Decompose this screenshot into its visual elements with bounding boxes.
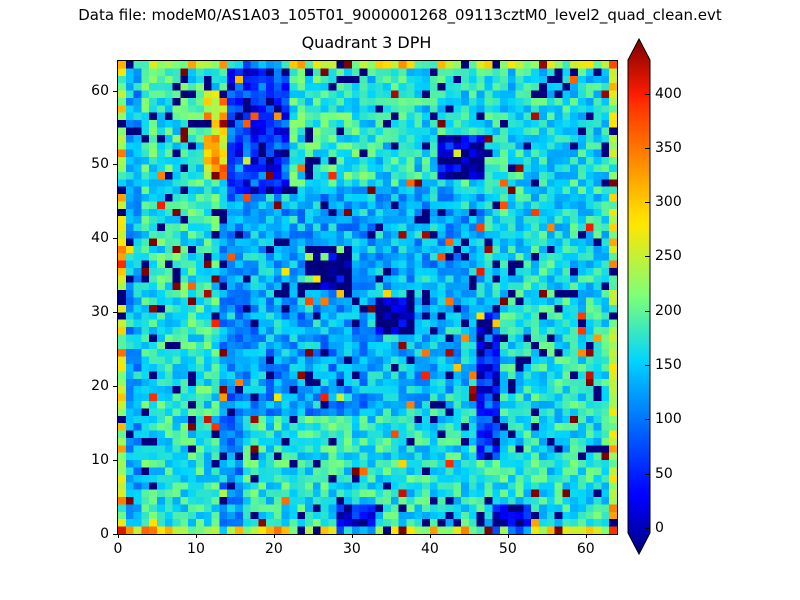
y-tick-label: 0 [77,526,109,542]
y-tick-label: 30 [77,304,109,320]
colorbar-tick-label: 300 [655,194,682,210]
y-tick-mark [113,534,117,535]
y-tick-label: 60 [77,83,109,99]
x-tick-mark [430,534,431,538]
y-tick-label: 10 [77,452,109,468]
heatmap-axes [117,60,618,535]
x-tick-mark [274,534,275,538]
y-tick-mark [113,312,117,313]
colorbar-tick-label: 400 [655,86,682,102]
figure-canvas: Data file: modeM0/AS1A03_105T01_90000012… [0,0,800,600]
x-tick-mark [118,534,119,538]
colorbar-tick-mark [645,419,650,420]
colorbar-tick-mark [645,474,650,475]
x-tick-label: 0 [114,541,123,557]
plot-title: Quadrant 3 DPH [117,33,616,52]
colorbar-tick-label: 350 [655,140,682,156]
y-tick-mark [113,238,117,239]
colorbar-tick-mark [645,202,650,203]
colorbar [627,60,651,533]
y-tick-mark [113,386,117,387]
x-tick-mark [352,534,353,538]
colorbar-gradient [627,38,651,555]
x-tick-label: 20 [265,541,283,557]
x-tick-label: 30 [343,541,361,557]
x-tick-label: 10 [187,541,205,557]
x-tick-mark [508,534,509,538]
colorbar-tick-label: 150 [655,357,682,373]
colorbar-tick-label: 250 [655,248,682,264]
data-file-label: Data file: modeM0/AS1A03_105T01_90000012… [0,6,800,24]
y-tick-label: 40 [77,230,109,246]
heatmap-image [118,61,617,534]
colorbar-tick-mark [645,94,650,95]
colorbar-tick-mark [645,528,650,529]
y-tick-label: 50 [77,156,109,172]
colorbar-tick-mark [645,365,650,366]
y-tick-label: 20 [77,378,109,394]
colorbar-tick-label: 0 [655,520,664,536]
x-tick-label: 40 [421,541,439,557]
x-tick-mark [586,534,587,538]
x-tick-label: 50 [499,541,517,557]
x-tick-mark [196,534,197,538]
colorbar-tick-label: 200 [655,303,682,319]
colorbar-tick-label: 50 [655,466,673,482]
y-tick-mark [113,460,117,461]
colorbar-tick-mark [645,148,650,149]
y-tick-mark [113,91,117,92]
colorbar-tick-mark [645,256,650,257]
colorbar-tick-label: 100 [655,411,682,427]
colorbar-tick-mark [645,311,650,312]
y-tick-mark [113,164,117,165]
x-tick-label: 60 [577,541,595,557]
